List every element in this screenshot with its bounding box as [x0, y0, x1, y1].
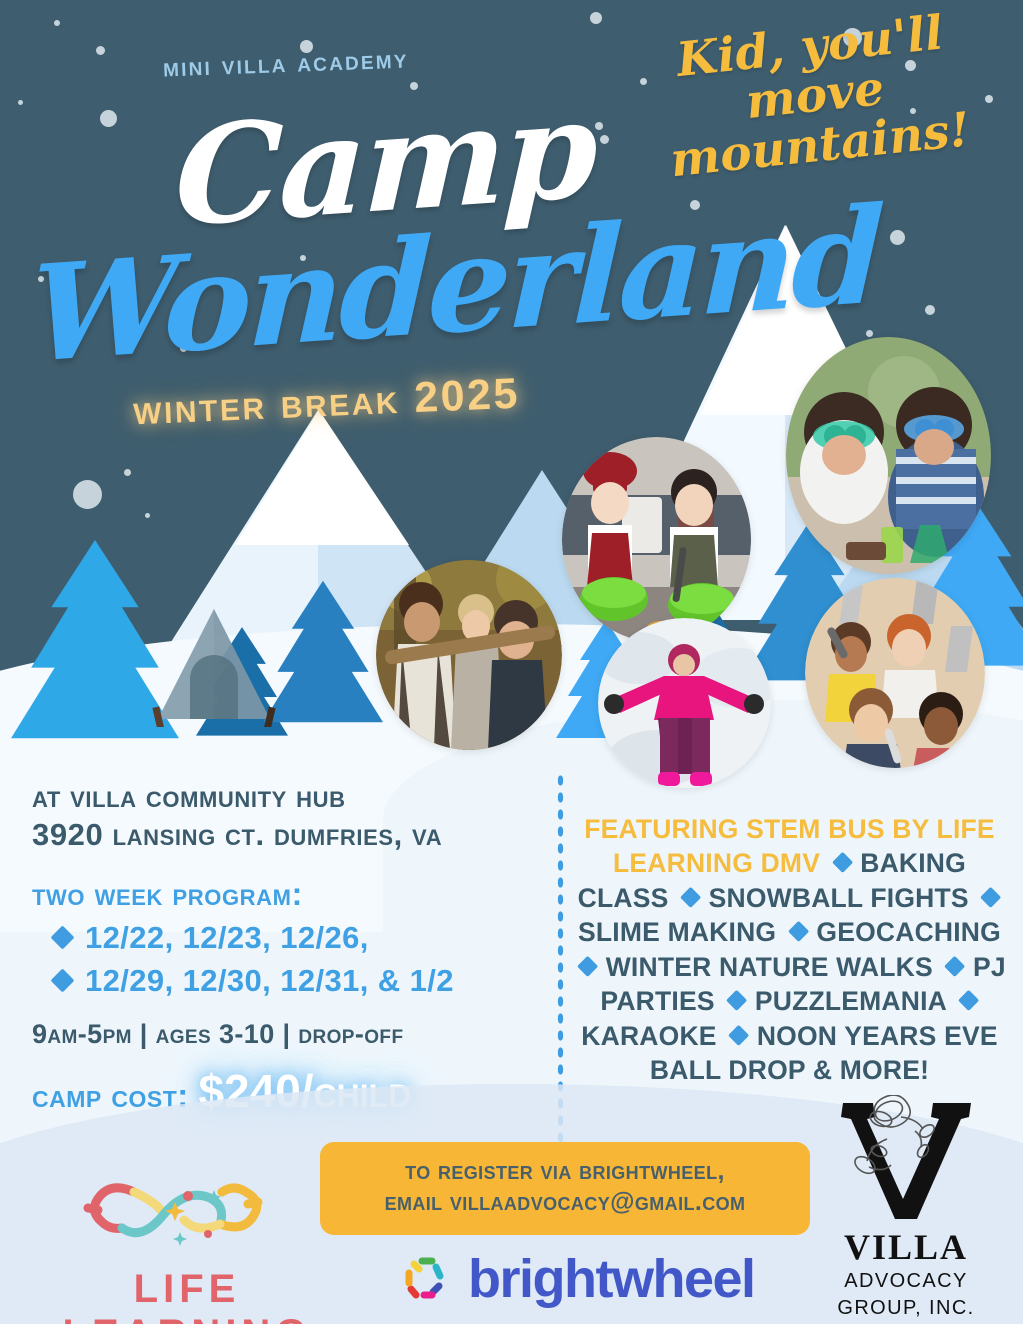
- brightwheel-wordmark: brightwheel: [468, 1248, 755, 1310]
- info-panel-left: At Villa Community Hub 3920 Lansing Ct. …: [32, 778, 542, 1118]
- snow-dot: [96, 46, 105, 55]
- program-date-2: 12/29, 12/30, 12/31, & 1/2: [85, 963, 454, 999]
- activity-item: KARAOKE: [581, 1021, 716, 1051]
- snow-dot: [600, 135, 609, 144]
- snow-dot: [54, 20, 60, 26]
- schedule-meta: 9am-5pm | Ages 3-10 | Drop-Off: [32, 1019, 542, 1050]
- activity-item: GEOCACHING: [816, 917, 1001, 947]
- villa-v-monogram-icon: [831, 1095, 981, 1225]
- diamond-bullet-icon: [50, 926, 74, 950]
- program-date-row: 12/29, 12/30, 12/31, & 1/2: [32, 963, 542, 999]
- brightwheel-mark-icon: [400, 1252, 454, 1306]
- photo-science-lab: [786, 337, 991, 574]
- activity-item: PUZZLEMANIA: [755, 986, 946, 1016]
- activities-list: FEATURING STEM BUS BY LIFE LEARNING DMV …: [572, 812, 1007, 1088]
- villa-subtitle-line-2: GROUP, INC.: [811, 1295, 1001, 1322]
- activity-item: WINTER NATURE WALKS: [606, 952, 933, 982]
- life-learning-wordmark: LIFE LEARNING: [22, 1267, 352, 1324]
- infinity-bear-icon: [62, 1172, 312, 1258]
- photo-baking: [562, 437, 751, 642]
- photo-nature-walk: [376, 560, 562, 750]
- program-date-1: 12/22, 12/23, 12/26,: [85, 920, 369, 956]
- photo-snow-angel: [598, 618, 771, 788]
- activity-item: SNOWBALL FIGHTS: [709, 883, 969, 913]
- program-date-row: 12/22, 12/23, 12/26,: [32, 920, 542, 956]
- diamond-bullet-icon: [680, 887, 701, 908]
- activity-item: SLIME MAKING: [578, 917, 776, 947]
- diamond-bullet-icon: [788, 921, 809, 942]
- snow-dot: [595, 122, 603, 130]
- villa-subtitle-line-1: ADVOCACY: [811, 1268, 1001, 1295]
- life-learning-logo: LIFE LEARNING: [22, 1172, 352, 1324]
- venue-block: At Villa Community Hub 3920 Lansing Ct. …: [32, 778, 542, 854]
- diamond-bullet-icon: [577, 956, 598, 977]
- mountain-big-left-snowcap: [235, 410, 409, 545]
- diamond-bullet-icon: [728, 1024, 749, 1045]
- register-banner[interactable]: To register via brightwheel, email Villa…: [320, 1142, 810, 1235]
- register-line-2: email VillaAdvocacy@gmail.com: [336, 1187, 794, 1218]
- snow-dot: [18, 100, 23, 105]
- photo-party-hats: [805, 578, 985, 768]
- diamond-bullet-icon: [50, 969, 74, 993]
- venue-line-1: At Villa Community Hub: [32, 778, 542, 816]
- program-heading: Two Week Program:: [32, 876, 542, 913]
- register-line-1: To register via brightwheel,: [336, 1156, 794, 1187]
- snow-dot: [73, 480, 102, 509]
- brightwheel-logo: brightwheel: [400, 1248, 755, 1310]
- pine-tree-icon: [263, 580, 383, 735]
- diamond-bullet-icon: [980, 887, 1001, 908]
- diamond-bullet-icon: [726, 990, 747, 1011]
- diamond-bullet-icon: [958, 990, 979, 1011]
- diamond-bullet-icon: [944, 956, 965, 977]
- diamond-bullet-icon: [832, 852, 853, 873]
- villa-advocacy-logo: VILLA ADVOCACY GROUP, INC.: [811, 1095, 1001, 1322]
- camping-tent-icon: [152, 607, 277, 732]
- snow-dot: [100, 110, 117, 127]
- venue-line-2: 3920 Lansing Ct. Dumfries, VA: [32, 816, 542, 854]
- snow-dot: [590, 12, 602, 24]
- flyer-poster: Mini Villa Academy Camp Wonderland Winte…: [0, 0, 1023, 1324]
- villa-wordmark: VILLA: [811, 1226, 1001, 1268]
